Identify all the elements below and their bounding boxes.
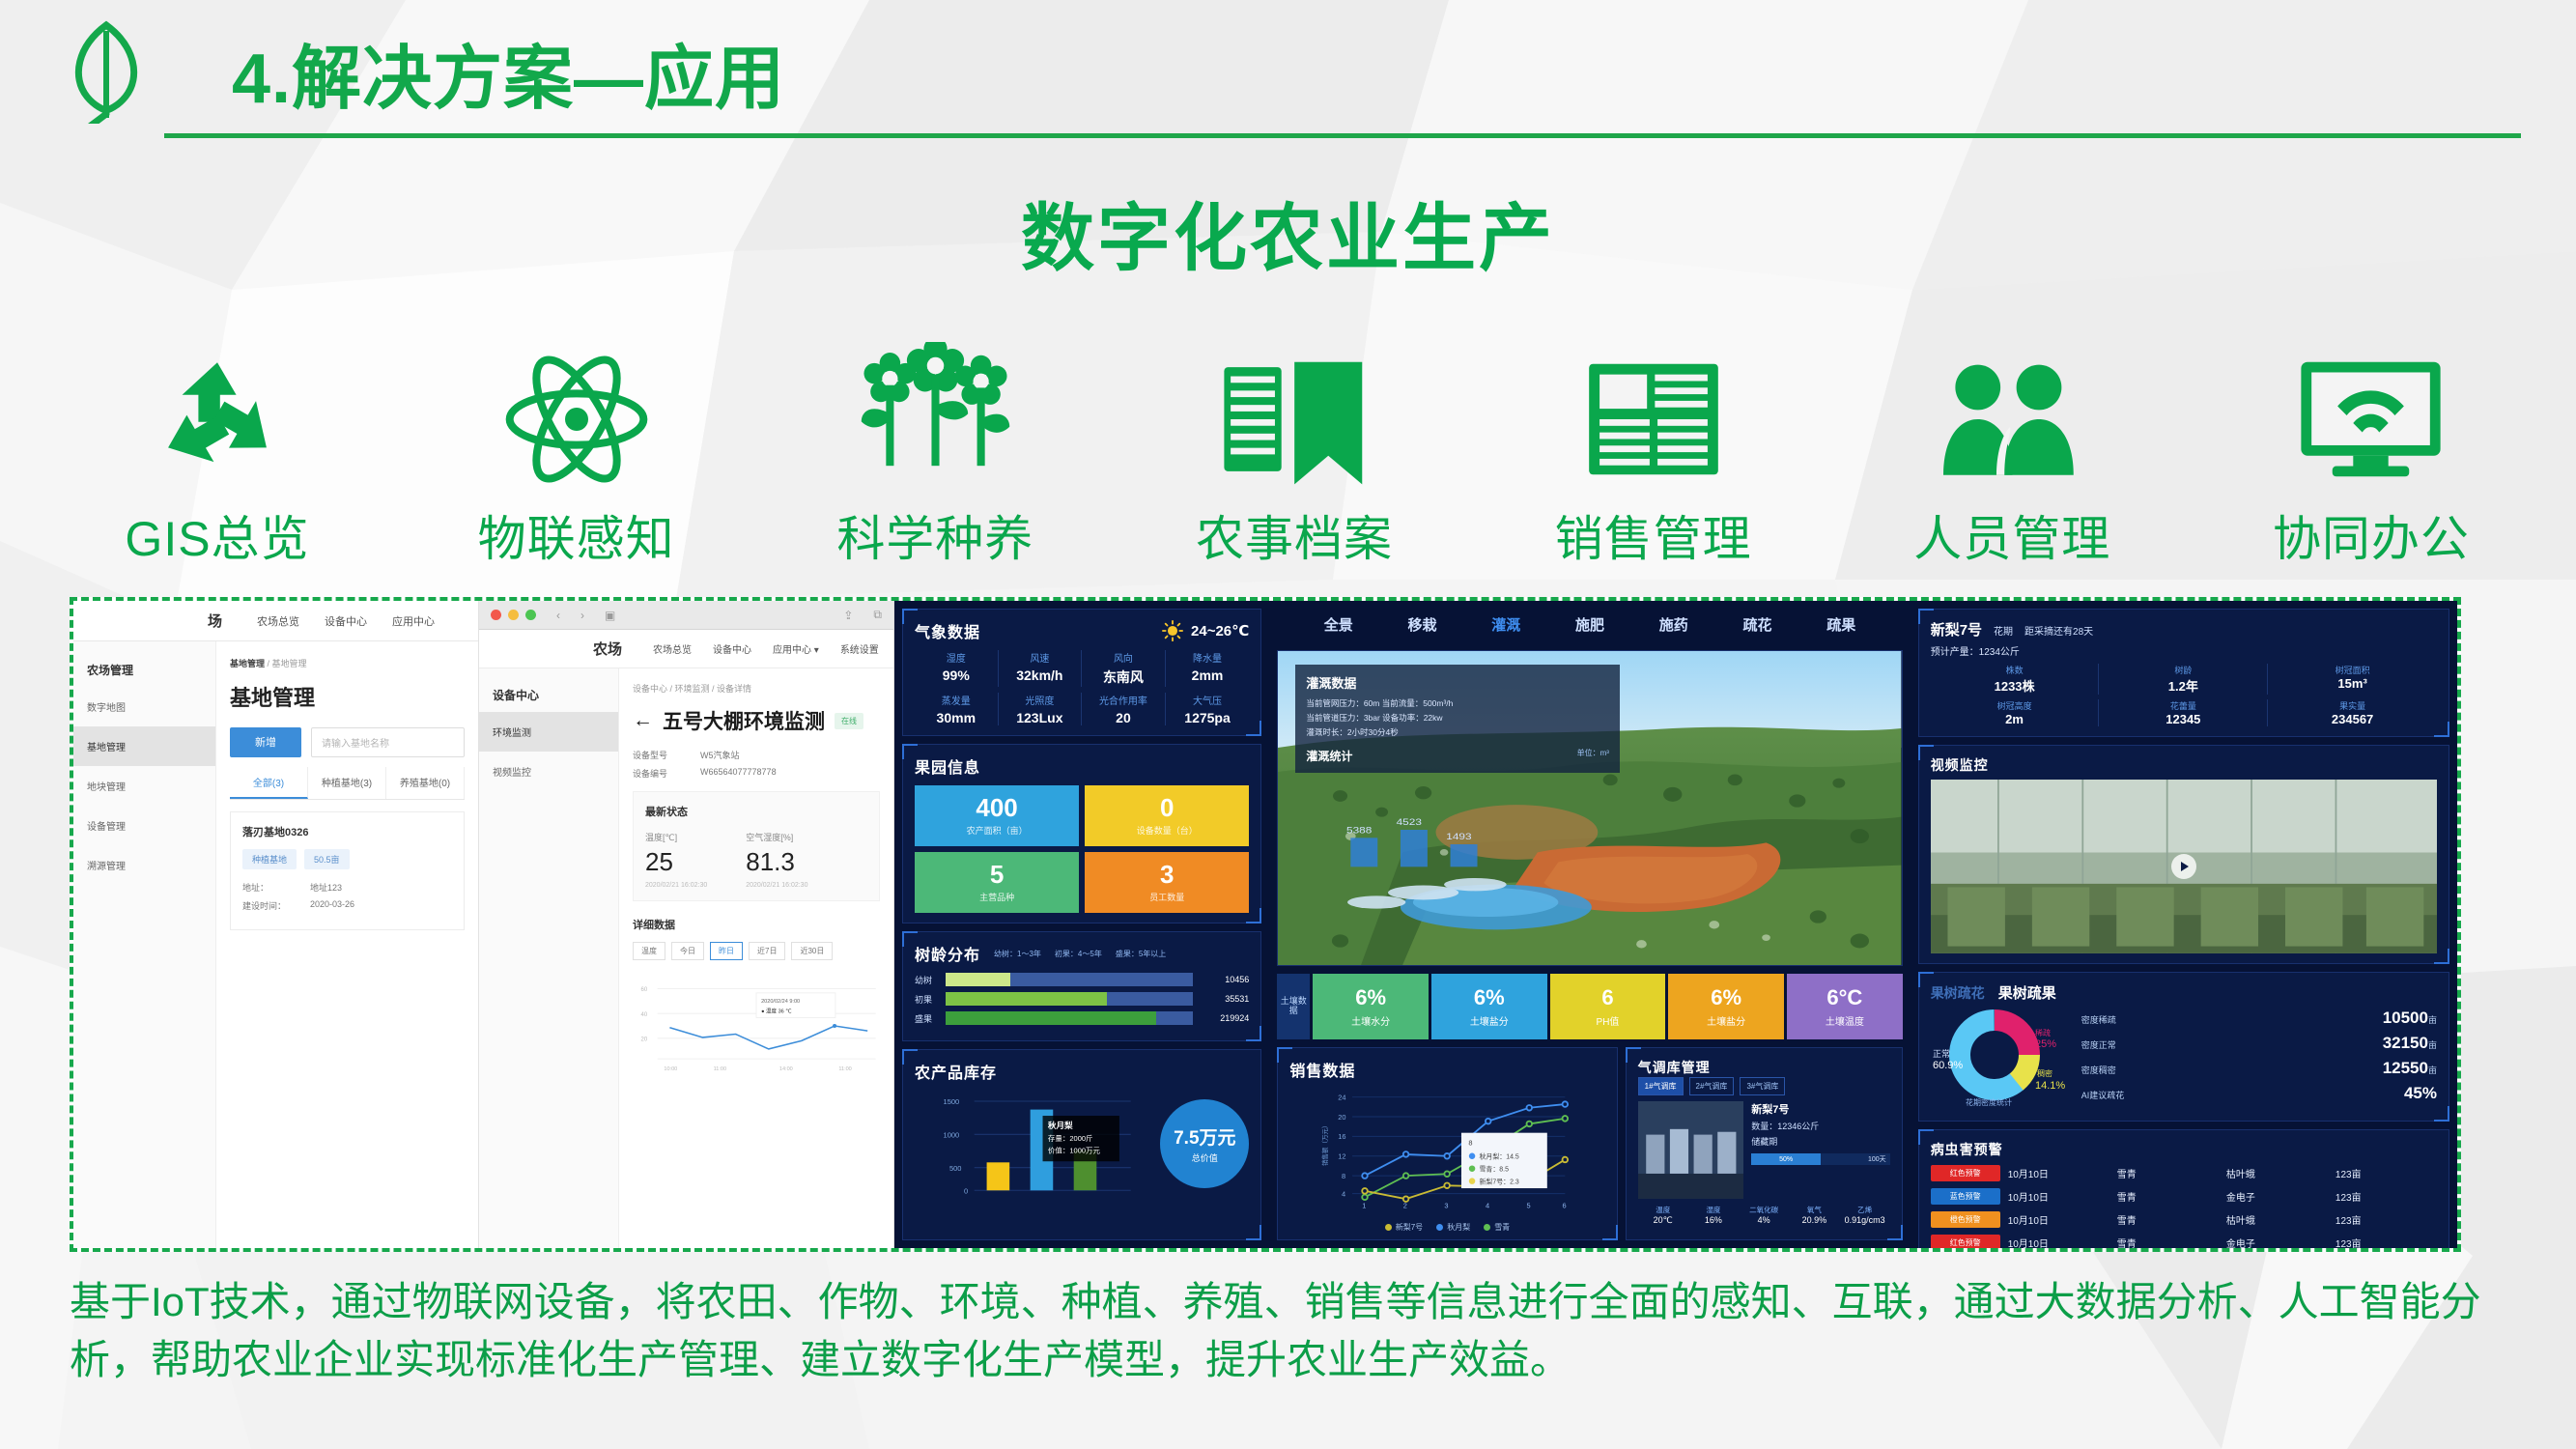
metric-value: 123Lux — [999, 710, 1082, 725]
recycle-icon — [145, 332, 290, 487]
svg-text:正常: 正常 — [1933, 1048, 1950, 1059]
field-value: 地址123 — [310, 881, 342, 894]
svg-text:40: 40 — [641, 1012, 648, 1018]
tile-value: 5 — [990, 862, 1004, 887]
tile-devices[interactable]: 0 设备数量（台） — [1085, 785, 1249, 846]
stat-unit: 亩 — [2428, 1040, 2437, 1050]
device-monitor-browser: ‹ › ▣ ⇪ ⧉ 农场 农场总览 设备中心 应用中心 ▾ 系统设置 设备中心 … — [479, 601, 894, 1248]
tile-label: 员工数量 — [1149, 891, 1184, 903]
table-row: 红色预警 10月10日 雪青 枯叶蛾 123亩 — [1931, 1165, 2437, 1181]
tile-label: 农产面积（亩） — [967, 824, 1028, 837]
tile-varieties[interactable]: 5 主营品种 — [915, 852, 1079, 913]
svg-text:4523: 4523 — [1397, 817, 1422, 827]
pear-metric-canopy-height: 树冠高度2m — [1931, 699, 2100, 726]
card-chip: 50.5亩 — [304, 849, 350, 869]
alert-area: 123亩 — [2335, 1166, 2437, 1180]
metric-label: 风速 — [999, 650, 1082, 665]
metric-label: 空气湿度[%] — [746, 831, 807, 843]
tab-thin-fruit[interactable]: 果树疏果 — [1998, 982, 2056, 1003]
tab-planting[interactable]: 种植基地(3) — [308, 767, 386, 799]
app-nav[interactable]: 农场总览 设备中心 应用中心 ▾ 系统设置 — [634, 641, 879, 656]
bar-label: 盛果 — [915, 1012, 940, 1025]
app-nav[interactable]: 农场总览 设备中心 应用中心 — [236, 613, 435, 629]
alert-variety: 雪青 — [2117, 1236, 2219, 1250]
metric-label: 光合作用率 — [1082, 693, 1165, 707]
nav-item[interactable]: 农场总览 — [653, 641, 692, 656]
metric-value: 99% — [915, 668, 998, 683]
feature-archive[interactable]: 农事档案 — [1135, 332, 1454, 570]
weather-panel: 气象数据 24~26℃ — [902, 609, 1261, 736]
panel-title: 气象数据 — [915, 619, 980, 642]
soil-moisture: 6% 土壤水分 — [1313, 974, 1429, 1039]
inventory-bar-chart: 15001000 5000 秋月梨 存量：2000斤 价值：1000万元 — [915, 1087, 1160, 1201]
metric-label: 湿度 — [1688, 1205, 1739, 1215]
metric-value: 15m³ — [2268, 676, 2437, 691]
soil-value: 6% — [1474, 985, 1505, 1010]
inventory-panel: 农产品库存 15001000 5000 — [902, 1049, 1261, 1240]
estimated-yield: 预计产量：1234公斤 — [1931, 643, 2437, 658]
tab-transplant[interactable]: 移栽 — [1407, 614, 1436, 635]
feature-label: 物联感知 — [478, 500, 675, 570]
progress-total: 100天 — [1868, 1154, 1886, 1164]
tile-area[interactable]: 400 农产面积（亩） — [915, 785, 1079, 846]
close-icon[interactable] — [491, 610, 501, 620]
svg-text:1: 1 — [1363, 1201, 1367, 1209]
nav-item[interactable]: 应用中心 ▾ — [773, 641, 819, 656]
maximize-icon[interactable] — [525, 610, 536, 620]
back-arrow-icon[interactable]: ← — [633, 709, 653, 732]
metric-label: 风向 — [1082, 650, 1165, 665]
stat-unit: 亩 — [2428, 1015, 2437, 1025]
pear-metric-canopy-area: 树冠面积15m³ — [2268, 664, 2437, 695]
metric-label: 树龄 — [2099, 664, 2267, 676]
weather-pressure: 大气压1275pa — [1166, 693, 1250, 725]
slide-caption: 基于IoT技术，通过物联网设备，将农田、作物、环境、种植、养殖、销售等信息进行全… — [70, 1273, 2504, 1388]
metric-label: 降水量 — [1166, 650, 1250, 665]
sidebar-item-env-monitor[interactable]: 环境监测 — [479, 712, 618, 752]
metric-timestamp: 2020/02/21 16:02:30 — [645, 882, 707, 889]
feature-label: 协同办公 — [2273, 500, 2470, 570]
panel-title: 树龄分布 — [915, 942, 980, 965]
detail-data-title: 详细数据 — [633, 917, 880, 932]
storage-tab-1[interactable]: 1#气调库 — [1638, 1077, 1684, 1095]
tab-breeding[interactable]: 养殖基地(0) — [386, 767, 465, 799]
weather-humidity: 湿度99% — [915, 650, 999, 687]
metric-value: 32km/h — [999, 668, 1082, 683]
metric-value: 25 — [645, 847, 707, 877]
weather-evaporation: 蒸发量30mm — [915, 693, 999, 725]
storage-tab-3[interactable]: 3#气调库 — [1740, 1077, 1785, 1095]
stat-label: AI建议疏花 — [2081, 1089, 2125, 1101]
stat-label: 密度正常 — [2081, 1038, 2116, 1051]
feature-gis[interactable]: GIS总览 — [58, 332, 377, 570]
bar-row-early: 初果 35531 — [915, 992, 1249, 1006]
stat-value: 10500 — [2383, 1009, 2428, 1027]
legend-item: 雪青 — [1494, 1222, 1510, 1233]
bar-value: 10456 — [1199, 975, 1249, 984]
overlay-stat-title: 灌溉统计 — [1306, 748, 1352, 764]
soil-label: 土壤盐分 — [1707, 1013, 1745, 1028]
svg-text:60: 60 — [641, 987, 648, 993]
storage-quantity: 数量：12346公斤 — [1751, 1120, 1889, 1132]
soil-label: PH值 — [1597, 1013, 1620, 1028]
legend-young: 幼树：1～3年 — [994, 949, 1041, 959]
card-title: 落刃基地0326 — [242, 824, 452, 839]
range-today[interactable]: 今日 — [671, 942, 704, 960]
status-badge: 红色预警 — [1931, 1235, 2000, 1251]
legend-item: 新梨7号 — [1396, 1222, 1423, 1233]
back-icon[interactable]: ‹ — [556, 609, 560, 622]
tile-value: 3 — [1160, 862, 1174, 887]
tabs-icon[interactable]: ⧉ — [873, 608, 882, 622]
table-row: 红色预警 10月10日 雪青 金电子 123亩 — [1931, 1235, 2437, 1251]
metric-label: 乙烯 — [1839, 1205, 1889, 1215]
app-sidebar: 农场管理 数字地图 基地管理 地块管理 设备管理 溯源管理 — [73, 641, 216, 1248]
bi-dashboard: 气象数据 24~26℃ — [894, 601, 2457, 1248]
slide-header: 4.解决方案—应用 — [0, 0, 2576, 145]
soil-data-row: 土壤数据 6% 土壤水分 6% 土壤盐分 6 PH值 6% 土壤盐分 — [1277, 974, 1902, 1039]
svg-text:25%: 25% — [2035, 1038, 2056, 1050]
card-title: 最新状态 — [645, 804, 867, 819]
overlay-line: 灌溉时长：2小时30分4秒 — [1306, 726, 1609, 738]
field-key: 建设时间： — [242, 899, 310, 912]
app-brand: 场 — [73, 611, 236, 631]
metric-value: 0.91g/cm3 — [1839, 1215, 1889, 1225]
svg-text:8: 8 — [1469, 1139, 1473, 1148]
weather-winddir: 风向东南风 — [1082, 650, 1166, 687]
tile-staff[interactable]: 3 员工数量 — [1085, 852, 1249, 913]
activity-tabs[interactable]: 全景 移栽 灌溉 施肥 施药 疏花 疏果 — [1277, 609, 1902, 642]
metric-label: 温度[℃] — [645, 831, 707, 843]
feature-label: 科学种养 — [836, 500, 1033, 570]
monitor-wifi-icon — [2296, 332, 2446, 487]
svg-text:11:00: 11:00 — [838, 1066, 851, 1072]
soil-salinity: 6% 土壤盐分 — [1668, 974, 1784, 1039]
table-row: 橙色预警 10月10日 雪青 枯叶蛾 123亩 — [1931, 1211, 2437, 1228]
metric-label: 蒸发量 — [915, 693, 998, 707]
metric-label: 树冠面积 — [2268, 664, 2437, 676]
nav-item[interactable]: 农场总览 — [257, 613, 299, 629]
sidebar-toggle-icon[interactable]: ▣ — [605, 609, 615, 622]
alert-pest: 金电子 — [2226, 1236, 2328, 1250]
alert-date: 10月10日 — [2008, 1236, 2109, 1250]
svg-text:0: 0 — [964, 1186, 968, 1195]
status-badge: 在线 — [835, 713, 863, 729]
metric-label: 株数 — [1931, 664, 2099, 676]
app-topbar: 场 农场总览 设备中心 应用中心 — [73, 601, 478, 641]
legend-item: 秋月梨 — [1447, 1222, 1470, 1233]
orchard-info-panel: 果园信息 400 农产面积（亩） 0 设备数量（台） 5 主营品种 — [902, 744, 1261, 923]
alert-pest: 枯叶蛾 — [2226, 1212, 2328, 1227]
orchard-3d-map[interactable]: 5388 4523 1493 灌溉数据 当前管网压力：60m 当前流量：500m… — [1277, 650, 1902, 966]
device-title-row: ← 五号大棚环境监测 在线 — [633, 706, 880, 735]
legend-early: 初果：4～5年 — [1055, 949, 1102, 959]
field-value: W66564077778778 — [700, 767, 777, 780]
total-value-badge: 7.5万元 总价值 — [1160, 1099, 1249, 1188]
range-30d[interactable]: 近30日 — [791, 942, 833, 960]
latest-status-card: 最新状态 温度[℃] 25 2020/02/21 16:02:30 空气湿度[%… — [633, 791, 880, 901]
overlay-stat-unit: 单位：m³ — [1577, 748, 1609, 764]
device-title: 五号大棚环境监测 — [663, 706, 825, 735]
alert-date: 10月10日 — [2008, 1189, 2109, 1204]
svg-text:60.9%: 60.9% — [1933, 1060, 1963, 1071]
dashboard-middle-column: 全景 移栽 灌溉 施肥 施药 疏花 疏果 — [1269, 601, 1910, 1248]
svg-text:6: 6 — [1563, 1201, 1567, 1209]
panel-title: 农产品库存 — [915, 1060, 1249, 1083]
select-metric[interactable]: 温度 — [633, 942, 665, 960]
metric-value: 20℃ — [1638, 1215, 1688, 1226]
svg-text:8: 8 — [1342, 1172, 1345, 1180]
temp-range: 24~26℃ — [1191, 622, 1249, 639]
tab-thin-flower[interactable]: 疏花 — [1743, 614, 1772, 635]
play-icon[interactable] — [2171, 854, 2196, 879]
breadcrumb: 基地管理 / 基地管理 — [230, 657, 465, 669]
svg-text:● 温度 36 ℃: ● 温度 36 ℃ — [761, 1007, 791, 1014]
storage-item-name: 新梨7号 — [1751, 1101, 1889, 1117]
nav-item[interactable]: 系统设置 — [840, 641, 879, 656]
storage-env-metrics: 温度20℃ 湿度16% 二氧化碳4% 氧气20.9% 乙烯0.91g/cm3 — [1638, 1205, 1890, 1226]
alert-pest: 枯叶蛾 — [2226, 1166, 2328, 1180]
metric-label: 温度 — [1638, 1205, 1688, 1215]
base-card[interactable]: 落刃基地0326 种植基地 50.5亩 地址：地址123 建设时间：2020-0… — [230, 811, 465, 930]
tab-panorama[interactable]: 全景 — [1324, 614, 1353, 635]
alert-date: 10月10日 — [2008, 1212, 2109, 1227]
stat-label: 密度稀疏 — [2081, 1013, 2116, 1026]
forward-icon[interactable]: › — [580, 609, 584, 622]
archive-book-icon — [1219, 332, 1369, 487]
soil-nutrient: 6% 土壤盐分 — [1431, 974, 1547, 1039]
metric-value: 1233株 — [1931, 676, 2099, 695]
range-yesterday[interactable]: 昨日 — [710, 942, 743, 960]
variety-name: 新梨7号 — [1931, 619, 1982, 639]
bar-row-young: 幼树 10456 — [915, 973, 1249, 986]
title-divider — [164, 133, 2521, 138]
alert-date: 10月10日 — [2008, 1166, 2109, 1180]
nav-item[interactable]: 设备中心 — [325, 613, 367, 629]
tab-all[interactable]: 全部(3) — [230, 767, 308, 799]
pest-alert-panel: 病虫害预警 红色预警 10月10日 雪青 枯叶蛾 123亩 蓝色预警 10月10… — [1918, 1129, 2449, 1252]
weather-illuminance: 光照度123Lux — [999, 693, 1083, 725]
nav-item[interactable]: 应用中心 — [392, 613, 435, 629]
soil-label: 土壤盐分 — [1470, 1013, 1509, 1028]
panel-title: 果园信息 — [915, 754, 1249, 778]
video-player[interactable] — [1931, 780, 2437, 953]
tree-age-bars: 幼树 10456 初果 35531 盛果 219924 — [915, 973, 1249, 1025]
svg-text:存量：2000斤: 存量：2000斤 — [1048, 1133, 1093, 1143]
search-input[interactable]: 请输入基地名称 — [311, 727, 465, 757]
svg-text:10:00: 10:00 — [664, 1066, 677, 1072]
bar-value: 35531 — [1199, 994, 1249, 1004]
feature-iot[interactable]: 物联感知 — [417, 332, 736, 570]
svg-text:3: 3 — [1445, 1201, 1449, 1209]
alert-area: 123亩 — [2335, 1212, 2437, 1227]
minimize-icon[interactable] — [508, 610, 519, 620]
dashboard-right-column: 新梨7号 花期 距采摘还有28天 预计产量：1234公斤 株数1233株 树龄1… — [1911, 601, 2457, 1248]
feature-label: GIS总览 — [125, 500, 309, 570]
svg-text:14:00: 14:00 — [779, 1066, 793, 1072]
alert-area: 123亩 — [2335, 1189, 2437, 1204]
feature-sales[interactable]: 销售管理 — [1494, 332, 1813, 570]
svg-text:2: 2 — [1403, 1201, 1407, 1209]
sidebar-item-base-mgmt[interactable]: 基地管理 — [73, 726, 215, 766]
feature-label: 销售管理 — [1555, 500, 1752, 570]
svg-text:24: 24 — [1339, 1093, 1346, 1101]
add-button[interactable]: 新增 — [230, 727, 301, 757]
sidebar-title: 农场管理 — [73, 653, 215, 687]
panel-title: 销售数据 — [1289, 1058, 1604, 1081]
alert-pest: 金电子 — [2226, 1189, 2328, 1204]
svg-text:1000: 1000 — [944, 1131, 960, 1140]
soil-value: 6% — [1711, 985, 1741, 1010]
overlay-title: 灌溉数据 — [1306, 673, 1609, 692]
stat-label: 密度稠密 — [2081, 1064, 2116, 1076]
alert-area: 123亩 — [2335, 1236, 2437, 1250]
flowers-icon — [851, 332, 1020, 487]
soil-value: 6°C — [1826, 985, 1862, 1010]
svg-text:5388: 5388 — [1346, 826, 1372, 836]
svg-text:秋月梨：14.5: 秋月梨：14.5 — [1480, 1152, 1519, 1161]
storage-tab-2[interactable]: 2#气调库 — [1689, 1077, 1735, 1095]
panel-title: 气调库管理 — [1638, 1058, 1890, 1077]
table-row: 蓝色预警 10月10日 雪青 金电子 123亩 — [1931, 1188, 2437, 1205]
tree-age-panel: 树龄分布 幼树：1～3年 初果：4～5年 盛果：5年以上 幼树 10456 初果… — [902, 931, 1261, 1041]
sidebar-item-video-monitor[interactable]: 视频监控 — [479, 752, 618, 791]
feature-staff[interactable]: 人员管理 — [1853, 332, 2171, 570]
svg-text:11:00: 11:00 — [714, 1066, 726, 1072]
breadcrumb: 设备中心 / 环境监测 / 设备详情 — [633, 682, 880, 695]
breadcrumb-child: 基地管理 — [272, 659, 307, 668]
flower-thinning-panel: 果树疏花 果树疏果 正常 60.9% 稀疏 25% 稠密 — [1918, 972, 2449, 1122]
dashboard-left-column: 气象数据 24~26℃ — [894, 601, 1269, 1248]
metric-value: 16% — [1688, 1215, 1739, 1225]
app-topbar: 农场 农场总览 设备中心 应用中心 ▾ 系统设置 — [479, 630, 893, 668]
video-panel: 视频监控 — [1918, 745, 2449, 964]
soil-row-label: 土壤数据 — [1277, 974, 1310, 1039]
metric-value: 2m — [1931, 712, 2099, 726]
svg-text:12: 12 — [1339, 1152, 1346, 1161]
svg-text:2020/02/24 9:00: 2020/02/24 9:00 — [761, 999, 800, 1005]
sidebar-title: 设备中心 — [479, 678, 618, 712]
weather-rainfall: 降水量2mm — [1166, 650, 1250, 687]
tab-irrigation[interactable]: 灌溉 — [1491, 614, 1520, 635]
metric-label: 树冠高度 — [1931, 699, 2099, 712]
tile-label: 主营品种 — [979, 891, 1014, 903]
feature-icon-row: GIS总览 物联感知 — [58, 299, 2531, 570]
total-value: 7.5万元 — [1174, 1123, 1235, 1150]
metric-value: 234567 — [2268, 712, 2437, 726]
pest-alert-table: 红色预警 10月10日 雪青 枯叶蛾 123亩 蓝色预警 10月10日 雪青 金… — [1931, 1165, 2437, 1252]
sidebar-item-device-mgmt[interactable]: 设备管理 — [73, 806, 215, 845]
svg-text:16: 16 — [1339, 1132, 1346, 1141]
svg-text:新梨7号：2.3: 新梨7号：2.3 — [1480, 1177, 1519, 1185]
tab-pesticide[interactable]: 施药 — [1659, 614, 1688, 635]
soil-ph: 6 PH值 — [1550, 974, 1666, 1039]
metric-value: 81.3 — [746, 847, 807, 877]
breadcrumb-parent[interactable]: 基地管理 — [230, 659, 265, 668]
farm-admin-app: 场 农场总览 设备中心 应用中心 农场管理 数字地图 基地管理 地块管理 设备管… — [73, 601, 479, 1248]
tab-thin-fruit[interactable]: 疏果 — [1826, 614, 1855, 635]
pear-metric-fruits: 果实量234567 — [2268, 699, 2437, 726]
metric-value: 20.9% — [1789, 1215, 1839, 1225]
share-icon[interactable]: ⇪ — [843, 609, 853, 622]
card-chip: 种植基地 — [242, 849, 297, 869]
filter-tabs: 全部(3) 种植基地(3) 养殖基地(0) — [230, 767, 465, 800]
total-label: 总价值 — [1192, 1151, 1218, 1164]
nav-item[interactable]: 设备中心 — [713, 641, 751, 656]
leaf-icon — [53, 17, 159, 124]
metric-value: 12345 — [2099, 712, 2267, 726]
soil-temperature: 6°C 土壤温度 — [1787, 974, 1903, 1039]
tab-thin-flower[interactable]: 果树疏花 — [1931, 983, 1985, 1003]
density-donut-chart: 正常 60.9% 稀疏 25% 稠密 14.1% 花期密度统计 — [1931, 1007, 2076, 1111]
svg-text:价值：1000万元: 价值：1000万元 — [1048, 1146, 1101, 1155]
page-title: 4.解决方案—应用 — [232, 21, 785, 123]
sun-icon — [1162, 620, 1183, 641]
irrigation-overlay: 灌溉数据 当前管网压力：60m 当前流量：500m³/h 当前管道压力：3bar… — [1295, 665, 1620, 773]
soil-value: 6% — [1355, 985, 1386, 1010]
sidebar-item-digital-map[interactable]: 数字地图 — [73, 687, 215, 726]
tile-label: 设备数量（台） — [1137, 824, 1198, 837]
growth-stage: 花期 — [1994, 623, 2013, 638]
metric-label: 湿度 — [915, 650, 998, 665]
sidebar-item-plot-mgmt[interactable]: 地块管理 — [73, 766, 215, 806]
svg-text:花期密度统计: 花期密度统计 — [1966, 1097, 2012, 1107]
atom-icon — [499, 332, 654, 487]
range-7d[interactable]: 近7日 — [749, 942, 785, 960]
storage-photo — [1638, 1101, 1744, 1199]
bar-label: 幼树 — [915, 974, 940, 986]
feature-office[interactable]: 协同办公 — [2212, 332, 2531, 570]
svg-text:稠密: 稠密 — [2037, 1068, 2052, 1078]
pear-metric-count: 株数1233株 — [1931, 664, 2100, 695]
metric-value: 4% — [1739, 1215, 1789, 1225]
progress-fill: 50% — [1751, 1153, 1821, 1165]
stat-value: 32150 — [2383, 1034, 2428, 1052]
sidebar-item-trace-mgmt[interactable]: 溯源管理 — [73, 845, 215, 885]
feature-planting[interactable]: 科学种养 — [776, 332, 1094, 570]
status-badge: 红色预警 — [1931, 1165, 2000, 1181]
metric-label: 二氧化碳 — [1739, 1205, 1789, 1215]
status-badge: 橙色预警 — [1931, 1211, 2000, 1228]
soil-label: 土壤温度 — [1826, 1013, 1864, 1028]
storage-progress: 50% 100天 — [1751, 1153, 1889, 1165]
metric-temperature: 温度[℃] 25 2020/02/21 16:02:30 — [645, 831, 707, 889]
pear-metric-age: 树龄1.2年 — [2099, 664, 2268, 695]
feature-label: 农事档案 — [1196, 500, 1393, 570]
tile-value: 0 — [1160, 795, 1174, 820]
weather-windspeed: 风速32km/h — [999, 650, 1083, 687]
newspaper-icon — [1581, 332, 1726, 487]
density-stats: 密度稀疏10500亩 密度正常32150亩 密度稠密12550亩 AI建议疏花4… — [2081, 1009, 2437, 1109]
metric-label: 光照度 — [999, 693, 1082, 707]
metric-timestamp: 2020/02/21 16:02:30 — [746, 882, 807, 889]
overlay-line: 当前管网压力：60m 当前流量：500m³/h — [1306, 697, 1609, 709]
pear-metric-buds: 花蕾量12345 — [2099, 699, 2268, 726]
weather-metrics: 湿度99% 风速32km/h 风向东南风 降水量2mm 蒸发量30mm 光照度1… — [915, 650, 1249, 725]
svg-text:20: 20 — [1339, 1113, 1346, 1122]
tab-fertilize[interactable]: 施肥 — [1575, 614, 1604, 635]
field-key: 设备编号 — [633, 767, 700, 780]
status-badge: 蓝色预警 — [1931, 1188, 2000, 1205]
tile-value: 400 — [976, 795, 1017, 820]
svg-text:稀疏: 稀疏 — [2035, 1028, 2051, 1037]
main-heading: 数字化农业生产 — [0, 179, 2576, 285]
field-value: W5汽象站 — [700, 749, 740, 761]
sales-panel: 销售数据 242016 1284 销售额（万元） — [1277, 1047, 1617, 1240]
svg-text:销售额（万元）: 销售额（万元） — [1320, 1122, 1329, 1166]
svg-text:4: 4 — [1486, 1201, 1489, 1209]
metric-label: 氧气 — [1789, 1205, 1839, 1215]
